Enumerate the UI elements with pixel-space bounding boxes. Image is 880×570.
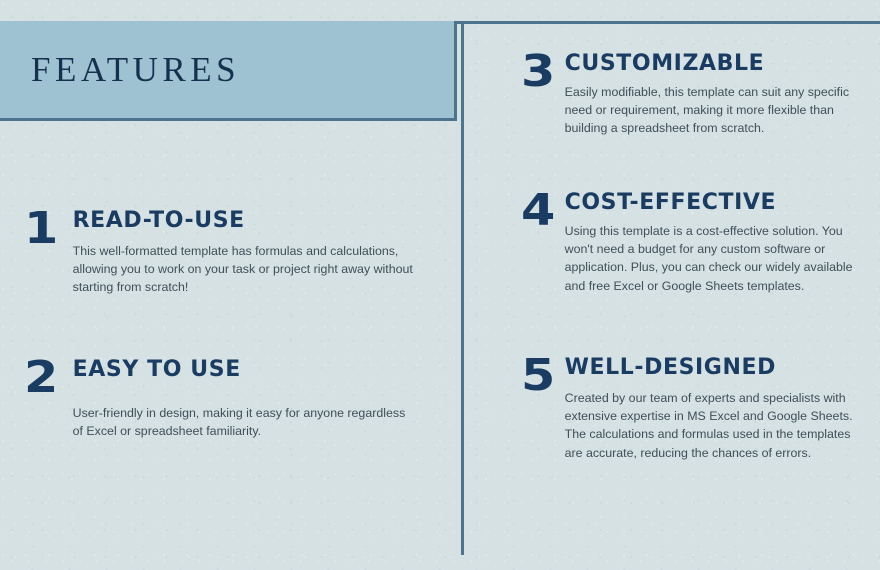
feature-number-4: 4 bbox=[521, 192, 554, 229]
feature-number-2: 2 bbox=[24, 359, 57, 396]
feature-item-3: 3 CUSTOMIZABLE Easily modifiable, this t… bbox=[521, 53, 880, 138]
feature-text-2: User-friendly in design, making it easy … bbox=[73, 404, 418, 440]
feature-item-2: 2 EASY TO USE User-friendly in design, m… bbox=[24, 359, 444, 440]
feature-content-3: CUSTOMIZABLE Easily modifiable, this tem… bbox=[565, 53, 880, 138]
feature-heading-2: EASY TO USE bbox=[73, 359, 444, 381]
feature-text-3: Easily modifiable, this template can sui… bbox=[565, 83, 853, 138]
feature-text-1: This well-formatted template has formula… bbox=[73, 242, 418, 297]
feature-heading-3: CUSTOMIZABLE bbox=[565, 53, 880, 75]
feature-heading-4: COST-EFFECTIVE bbox=[565, 192, 880, 214]
feature-content-4: COST-EFFECTIVE Using this template is a … bbox=[565, 192, 880, 295]
feature-heading-5: WELL-DESIGNED bbox=[565, 357, 880, 379]
feature-content-1: READ-TO-USE This well-formatted template… bbox=[73, 210, 444, 297]
feature-item-5: 5 WELL-DESIGNED Created by our team of e… bbox=[521, 357, 880, 462]
feature-item-4: 4 COST-EFFECTIVE Using this template is … bbox=[521, 192, 880, 295]
feature-number-1: 1 bbox=[24, 210, 57, 247]
feature-text-5: Created by our team of experts and speci… bbox=[565, 389, 855, 462]
feature-heading-1: READ-TO-USE bbox=[73, 210, 444, 232]
feature-content-2: EASY TO USE User-friendly in design, mak… bbox=[73, 359, 444, 440]
feature-number-5: 5 bbox=[521, 357, 554, 394]
feature-text-4: Using this template is a cost-effective … bbox=[565, 222, 860, 295]
page-title: FEATURES bbox=[0, 52, 240, 87]
feature-content-5: WELL-DESIGNED Created by our team of exp… bbox=[565, 357, 880, 462]
right-feature-column: 3 CUSTOMIZABLE Easily modifiable, this t… bbox=[464, 24, 880, 570]
features-header-panel: FEATURES bbox=[0, 21, 457, 121]
left-feature-column: 1 READ-TO-USE This well-formatted templa… bbox=[0, 121, 457, 570]
feature-item-1: 1 READ-TO-USE This well-formatted templa… bbox=[24, 210, 444, 297]
feature-number-3: 3 bbox=[521, 53, 554, 90]
